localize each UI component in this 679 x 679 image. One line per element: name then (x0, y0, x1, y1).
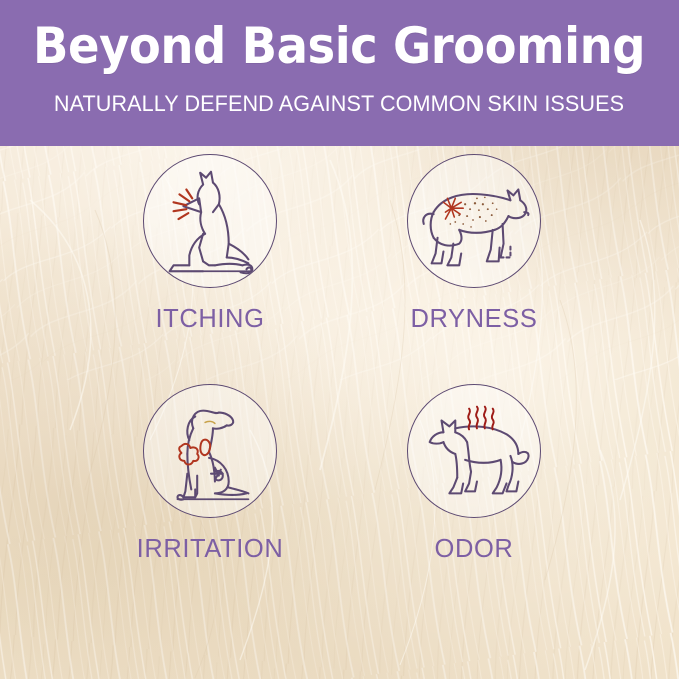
dog-odor-lines-icon (408, 384, 540, 518)
feature-itching: ITCHING (100, 154, 320, 333)
page-subtitle: NATURALLY DEFEND AGAINST COMMON SKIN ISS… (54, 93, 624, 116)
header-band: Beyond Basic Grooming NATURALLY DEFEND A… (0, 0, 679, 146)
feature-label-itching: ITCHING (155, 307, 264, 333)
infographic-canvas: Beyond Basic Grooming NATURALLY DEFEND A… (0, 0, 679, 679)
page-title: Beyond Basic Grooming (33, 21, 645, 71)
feature-label-irritation: IRRITATION (137, 537, 284, 563)
feature-label-odor: ODOR (435, 537, 514, 563)
dog-irritated-patches-icon (144, 384, 276, 518)
feature-dryness: DRYNESS (364, 154, 584, 333)
icon-circle-irritation (143, 384, 277, 518)
icon-circle-itching (143, 154, 277, 288)
dog-scratching-icon (144, 154, 276, 288)
icon-circle-odor (407, 384, 541, 518)
feature-odor: ODOR (364, 384, 584, 563)
feature-label-dryness: DRYNESS (410, 307, 537, 333)
feature-irritation: IRRITATION (100, 384, 320, 563)
feature-grid: ITCHING (0, 146, 679, 679)
icon-circle-dryness (407, 154, 541, 288)
dog-flaky-skin-icon (408, 154, 540, 288)
